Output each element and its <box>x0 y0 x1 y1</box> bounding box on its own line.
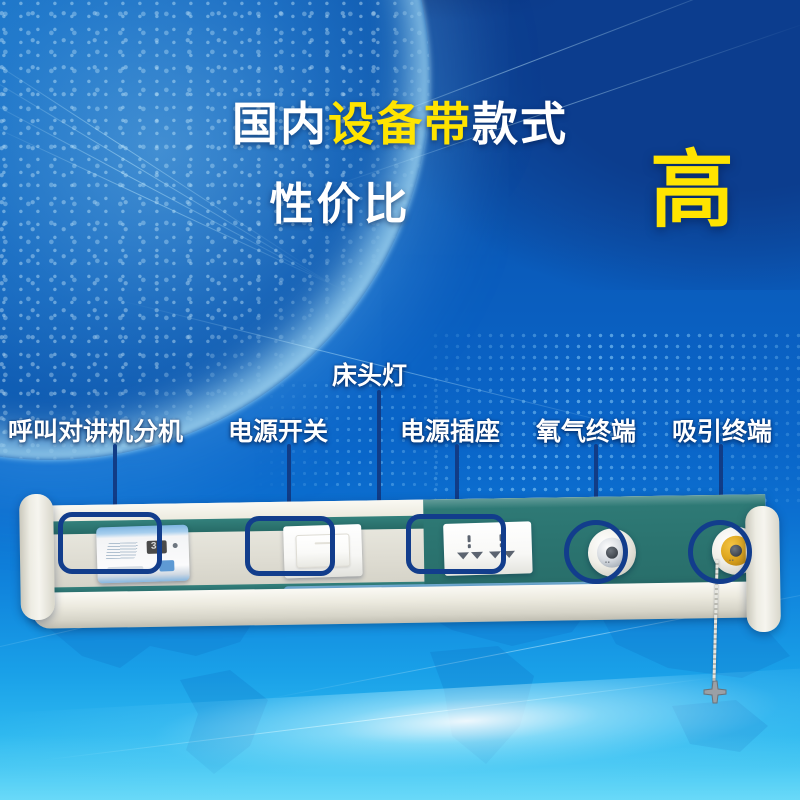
panel-endcap-left <box>19 494 55 621</box>
emphasis-character: 高 <box>650 148 734 232</box>
intercom-display: 39 <box>147 540 167 554</box>
headline-highlight: 设备带 <box>328 98 472 150</box>
speaker-grille-icon <box>105 542 138 559</box>
callout-label-oxygen: 氧气终端 <box>536 412 636 448</box>
power-outlet[interactable] <box>443 521 533 576</box>
switch-rocker[interactable] <box>295 533 350 568</box>
panel-endcap-right <box>745 506 781 633</box>
oxygen-terminal-port <box>606 547 618 559</box>
callout-label-bed-lamp: 床头灯 <box>332 356 407 392</box>
switch-indicator-mark <box>315 542 331 545</box>
poster-canvas: 国内设备带款式 性价比 高 呼叫对讲机分机 电源开关 床头灯 电源插座 氧气终端… <box>0 0 800 800</box>
suction-terminal-port <box>730 545 742 557</box>
oxygen-terminal-ring: ▪▪ <box>597 537 627 567</box>
power-switch[interactable] <box>283 524 363 578</box>
oxygen-terminal-mark: ▪▪ <box>605 560 611 566</box>
intercom-slot <box>107 566 143 571</box>
headline-part1: 国内 <box>232 98 328 150</box>
callout-label-suction: 吸引终端 <box>672 412 772 448</box>
callout-label-power-outlet: 电源插座 <box>400 412 500 448</box>
subheadline: 性价比 <box>60 168 620 232</box>
intercom-call-button[interactable] <box>159 560 174 571</box>
medical-bed-head-unit: 39 <box>18 492 782 642</box>
suction-terminal-mark: ▪▪ <box>729 558 735 564</box>
status-led-icon <box>173 543 178 548</box>
callout-label-intercom: 呼叫对讲机分机 <box>8 412 183 448</box>
headline-part3: 款式 <box>472 98 568 150</box>
nurse-call-intercom-unit[interactable]: 39 <box>96 525 190 584</box>
callout-label-power-switch: 电源开关 <box>228 412 328 448</box>
bottom-light-band <box>0 735 800 800</box>
pull-cord-handle-icon[interactable] <box>702 680 728 706</box>
